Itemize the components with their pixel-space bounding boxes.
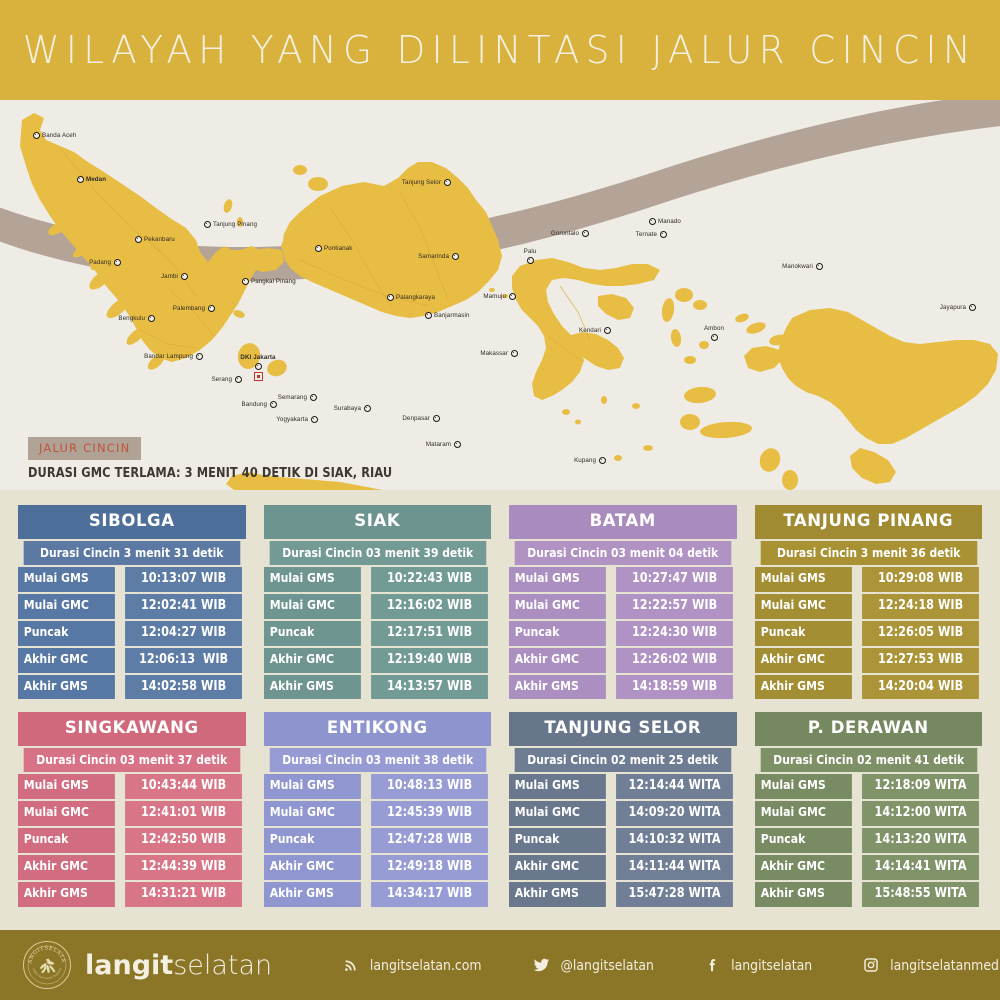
card-title: SIBOLGA <box>18 505 246 539</box>
city-dot <box>208 305 215 312</box>
city-dot <box>33 132 40 139</box>
city-dot <box>604 327 611 334</box>
row-label: Akhir GMS <box>509 882 606 907</box>
row-value: 14:09:20 WITA <box>616 801 733 826</box>
table-row: Puncak12:47:28 WIB <box>264 828 492 853</box>
city-dot <box>660 231 667 238</box>
table-row: Akhir GMS14:34:17 WIB <box>264 882 492 907</box>
city-label: Bandar Lampung <box>144 353 193 360</box>
row-value: 12:06:13 WIB <box>125 648 242 673</box>
table-row: Akhir GMC12:44:39 WIB <box>18 855 246 880</box>
brand-logo: LANGITSELATAN Jendela Astronomi Indonesi… <box>22 940 272 990</box>
city-dot <box>452 253 459 260</box>
card-title: SIAK <box>264 505 492 539</box>
table-row: Puncak12:24:30 WIB <box>509 621 737 646</box>
city-label: Tanjung Pinang <box>213 221 257 228</box>
jakarta-capital-marker <box>254 372 263 381</box>
city-dot <box>270 401 277 408</box>
rss-icon <box>342 956 360 974</box>
row-value: 14:11:44 WITA <box>616 855 733 880</box>
city-dot <box>444 179 451 186</box>
svg-text:LANGITSELATAN: LANGITSELATAN <box>22 940 66 965</box>
city-label: Medan <box>86 176 106 183</box>
row-label: Puncak <box>755 828 852 853</box>
social-handle-label: langitselatan.com <box>370 957 482 974</box>
cards-grid: SIBOLGADurasi Cincin 3 menit 31 detikMul… <box>18 505 982 907</box>
row-value: 14:13:57 WIB <box>371 675 488 700</box>
city-dot <box>114 259 121 266</box>
row-label: Akhir GMS <box>264 882 361 907</box>
row-label: Puncak <box>509 828 606 853</box>
row-value: 14:34:17 WIB <box>371 882 488 907</box>
row-label: Puncak <box>755 621 852 646</box>
city-label: Banda Aceh <box>42 132 76 139</box>
city-dot <box>315 245 322 252</box>
row-value: 12:04:27 WIB <box>125 621 242 646</box>
city-dot <box>135 236 142 243</box>
header-band: WILAYAH YANG DILINTASI JALUR CINCIN <box>0 0 1000 100</box>
timing-card: ENTIKONGDurasi Cincin 03 menit 38 detikM… <box>264 712 492 906</box>
city-label: Padang <box>89 259 111 266</box>
row-label: Akhir GMC <box>264 855 361 880</box>
city-dot <box>235 376 242 383</box>
social-link[interactable]: @langitselatan <box>533 956 656 974</box>
social-link[interactable]: langitselatanmedia <box>862 956 1000 974</box>
row-value: 10:27:47 WIB <box>616 567 733 592</box>
social-links: langitselatan.com@langitselatanlangitsel… <box>342 956 1000 974</box>
card-duration-subtitle: Durasi Cincin 02 menit 25 detik <box>515 748 731 773</box>
city-label: Jayapura <box>940 304 966 311</box>
row-value: 12:49:18 WIB <box>371 855 488 880</box>
table-row: Mulai GMC12:45:39 WIB <box>264 801 492 826</box>
city-dot <box>255 363 262 370</box>
timing-card: SIAKDurasi Cincin 03 menit 39 detikMulai… <box>264 505 492 699</box>
city-dot <box>242 278 249 285</box>
row-value: 12:26:05 WIB <box>862 621 979 646</box>
city-label: Semarang <box>278 394 307 401</box>
city-dot <box>387 294 394 301</box>
social-link[interactable]: langitselatan <box>704 956 814 974</box>
city-label: Bengkulu <box>118 315 145 322</box>
table-row: Akhir GMS15:48:55 WITA <box>755 882 983 907</box>
table-row: Akhir GMC12:06:13 WIB <box>18 648 246 673</box>
city-label: Pekanbaru <box>144 236 175 243</box>
row-value: 12:17:51 WIB <box>371 621 488 646</box>
table-row: Mulai GMS12:18:09 WITA <box>755 774 983 799</box>
card-duration-subtitle: Durasi Cincin 3 menit 36 detik <box>760 541 976 566</box>
table-row: Mulai GMS10:13:07 WIB <box>18 567 246 592</box>
row-label: Akhir GMS <box>755 882 852 907</box>
row-value: 14:10:32 WITA <box>616 828 733 853</box>
table-row: Mulai GMC12:41:01 WIB <box>18 801 246 826</box>
table-row: Akhir GMC12:49:18 WIB <box>264 855 492 880</box>
timing-card: P. DERAWANDurasi Cincin 02 menit 41 deti… <box>755 712 983 906</box>
city-dot <box>310 394 317 401</box>
social-handle-label: langitselatanmedia <box>891 957 1000 974</box>
row-value: 12:18:09 WITA <box>862 774 979 799</box>
row-value: 14:14:41 WITA <box>862 855 979 880</box>
row-value: 14:02:58 WIB <box>125 675 242 700</box>
row-label: Mulai GMS <box>264 567 361 592</box>
row-value: 12:14:44 WITA <box>616 774 733 799</box>
row-label: Mulai GMC <box>264 801 361 826</box>
city-label: Ambon <box>704 325 724 332</box>
card-duration-subtitle: Durasi Cincin 03 menit 04 detik <box>515 541 731 566</box>
city-label: Manado <box>658 218 681 225</box>
card-title: TANJUNG PINANG <box>755 505 983 539</box>
table-row: Puncak14:10:32 WITA <box>509 828 737 853</box>
row-label: Mulai GMC <box>755 594 852 619</box>
row-label: Mulai GMS <box>18 774 115 799</box>
city-label: Manokwari <box>782 263 813 270</box>
card-title: BATAM <box>509 505 737 539</box>
city-dot <box>711 334 718 341</box>
row-label: Akhir GMC <box>755 855 852 880</box>
row-label: Puncak <box>18 621 115 646</box>
city-dot <box>599 457 606 464</box>
row-label: Mulai GMC <box>18 801 115 826</box>
row-value: 14:12:00 WITA <box>862 801 979 826</box>
row-value: 12:24:18 WIB <box>862 594 979 619</box>
city-dot <box>649 218 656 225</box>
row-label: Mulai GMC <box>509 594 606 619</box>
row-label: Puncak <box>509 621 606 646</box>
city-label: Surabaya <box>334 405 361 412</box>
city-label: Kendari <box>579 327 601 334</box>
city-label: Bandung <box>242 401 267 408</box>
row-value: 10:43:44 WIB <box>125 774 242 799</box>
card-duration-subtitle: Durasi Cincin 03 menit 37 detik <box>24 748 240 773</box>
city-dot <box>148 315 155 322</box>
row-label: Akhir GMS <box>18 882 115 907</box>
svg-text:Jendela Astronomi Indonesia: Jendela Astronomi Indonesia <box>22 940 63 980</box>
table-row: Mulai GMS10:43:44 WIB <box>18 774 246 799</box>
timing-card: SINGKAWANGDurasi Cincin 03 menit 37 deti… <box>18 712 246 906</box>
row-label: Akhir GMS <box>509 675 606 700</box>
table-row: Akhir GMS15:47:28 WITA <box>509 882 737 907</box>
city-dot <box>364 405 371 412</box>
city-dot <box>204 221 211 228</box>
row-value: 15:47:28 WITA <box>616 882 733 907</box>
table-row: Mulai GMS10:27:47 WIB <box>509 567 737 592</box>
infographic-page: WILAYAH YANG DILINTASI JALUR CINCIN <box>0 0 1000 1000</box>
langitselatan-seal-icon: LANGITSELATAN Jendela Astronomi Indonesi… <box>22 940 72 990</box>
card-title: TANJUNG SELOR <box>509 712 737 746</box>
city-timing-cards-section: SIBOLGADurasi Cincin 3 menit 31 detikMul… <box>0 490 1000 930</box>
table-row: Akhir GMS14:02:58 WIB <box>18 675 246 700</box>
brand-wordmark: langitselatan <box>85 952 272 979</box>
row-label: Mulai GMS <box>755 567 852 592</box>
table-row: Mulai GMC14:12:00 WITA <box>755 801 983 826</box>
row-value: 12:19:40 WIB <box>371 648 488 673</box>
table-row: Mulai GMS12:14:44 WITA <box>509 774 737 799</box>
city-label: Ternate <box>636 231 657 238</box>
row-value: 12:22:57 WIB <box>616 594 733 619</box>
city-dot <box>527 257 534 264</box>
table-row: Akhir GMS14:13:57 WIB <box>264 675 492 700</box>
row-value: 12:47:28 WIB <box>371 828 488 853</box>
city-label: Jambi <box>161 273 178 280</box>
city-label: DKI Jakarta <box>240 354 275 361</box>
row-label: Akhir GMC <box>18 648 115 673</box>
row-value: 12:27:53 WIB <box>862 648 979 673</box>
city-label: Palangkaraya <box>396 294 435 301</box>
city-label: Banjarmasin <box>434 312 470 319</box>
row-value: 14:20:04 WIB <box>862 675 979 700</box>
city-dot <box>196 353 203 360</box>
legend-jalur-cincin: JALUR CINCIN <box>28 437 141 460</box>
card-duration-subtitle: Durasi Cincin 02 menit 41 detik <box>760 748 976 773</box>
row-label: Puncak <box>264 828 361 853</box>
city-dot <box>425 312 432 319</box>
row-label: Akhir GMC <box>264 648 361 673</box>
table-row: Puncak12:04:27 WIB <box>18 621 246 646</box>
row-label: Puncak <box>18 828 115 853</box>
table-row: Mulai GMC12:02:41 WIB <box>18 594 246 619</box>
row-value: 12:16:02 WIB <box>371 594 488 619</box>
table-row: Mulai GMC12:22:57 WIB <box>509 594 737 619</box>
social-handle-label: langitselatan <box>731 957 812 974</box>
city-label: Denpasar <box>402 415 430 422</box>
row-value: 10:22:43 WIB <box>371 567 488 592</box>
row-value: 12:02:41 WIB <box>125 594 242 619</box>
timing-card: TANJUNG PINANGDurasi Cincin 3 menit 36 d… <box>755 505 983 699</box>
table-row: Puncak14:13:20 WITA <box>755 828 983 853</box>
row-label: Akhir GMC <box>509 648 606 673</box>
city-dot <box>511 350 518 357</box>
city-dot <box>969 304 976 311</box>
table-row: Mulai GMC14:09:20 WITA <box>509 801 737 826</box>
page-title: WILAYAH YANG DILINTASI JALUR CINCIN <box>23 28 977 72</box>
twitter-icon <box>533 956 551 974</box>
row-label: Akhir GMS <box>264 675 361 700</box>
row-value: 14:13:20 WITA <box>862 828 979 853</box>
city-label: Samarinda <box>418 253 449 260</box>
facebook-icon <box>704 956 722 974</box>
row-value: 12:42:50 WIB <box>125 828 242 853</box>
row-label: Mulai GMS <box>509 567 606 592</box>
table-row: Puncak12:17:51 WIB <box>264 621 492 646</box>
card-duration-subtitle: Durasi Cincin 3 menit 31 detik <box>24 541 240 566</box>
timing-card: SIBOLGADurasi Cincin 3 menit 31 detikMul… <box>18 505 246 699</box>
city-dot <box>454 441 461 448</box>
table-row: Akhir GMC12:27:53 WIB <box>755 648 983 673</box>
social-handle-label: @langitselatan <box>560 957 654 974</box>
row-label: Mulai GMS <box>264 774 361 799</box>
row-label: Mulai GMS <box>755 774 852 799</box>
table-row: Akhir GMS14:31:21 WIB <box>18 882 246 907</box>
table-row: Mulai GMC12:24:18 WIB <box>755 594 983 619</box>
city-label: Mataram <box>426 441 451 448</box>
table-row: Akhir GMC14:11:44 WITA <box>509 855 737 880</box>
city-label: Kupang <box>574 457 596 464</box>
row-label: Akhir GMC <box>755 648 852 673</box>
table-row: Puncak12:26:05 WIB <box>755 621 983 646</box>
row-label: Mulai GMS <box>509 774 606 799</box>
row-label: Mulai GMS <box>18 567 115 592</box>
card-duration-subtitle: Durasi Cincin 03 menit 39 detik <box>269 541 485 566</box>
row-label: Akhir GMS <box>755 675 852 700</box>
city-dot <box>311 416 318 423</box>
timing-card: TANJUNG SELORDurasi Cincin 02 menit 25 d… <box>509 712 737 906</box>
row-value: 12:24:30 WIB <box>616 621 733 646</box>
city-label: Tanjung Selor <box>402 179 441 186</box>
card-title: SINGKAWANG <box>18 712 246 746</box>
row-value: 10:48:13 WIB <box>371 774 488 799</box>
footer-band: LANGITSELATAN Jendela Astronomi Indonesi… <box>0 930 1000 1000</box>
instagram-icon <box>862 956 880 974</box>
social-link[interactable]: langitselatan.com <box>342 956 484 974</box>
city-dot <box>181 273 188 280</box>
row-value: 12:44:39 WIB <box>125 855 242 880</box>
table-row: Akhir GMC12:26:02 WIB <box>509 648 737 673</box>
city-label: Palu <box>524 248 537 255</box>
city-label: Palembang <box>173 305 205 312</box>
city-label: Pontianak <box>324 245 352 252</box>
row-label: Mulai GMC <box>18 594 115 619</box>
table-row: Akhir GMC12:19:40 WIB <box>264 648 492 673</box>
card-duration-subtitle: Durasi Cincin 03 menit 38 detik <box>269 748 485 773</box>
row-value: 12:45:39 WIB <box>371 801 488 826</box>
row-value: 15:48:55 WITA <box>862 882 979 907</box>
row-value: 12:26:02 WIB <box>616 648 733 673</box>
city-label: Makassar <box>480 350 508 357</box>
row-label: Mulai GMC <box>264 594 361 619</box>
brand-bold: langit <box>85 950 173 981</box>
row-value: 14:18:59 WIB <box>616 675 733 700</box>
city-label: Yogyakarta <box>276 416 308 423</box>
card-title: P. DERAWAN <box>755 712 983 746</box>
table-row: Puncak12:42:50 WIB <box>18 828 246 853</box>
city-label: Pangkal Pinang <box>251 278 296 285</box>
row-label: Akhir GMC <box>509 855 606 880</box>
row-value: 10:13:07 WIB <box>125 567 242 592</box>
table-row: Akhir GMS14:18:59 WIB <box>509 675 737 700</box>
city-dot <box>509 293 516 300</box>
city-dot <box>77 176 84 183</box>
brand-light: selatan <box>173 950 272 981</box>
row-label: Mulai GMC <box>755 801 852 826</box>
timing-card: BATAMDurasi Cincin 03 menit 04 detikMula… <box>509 505 737 699</box>
row-label: Akhir GMS <box>18 675 115 700</box>
table-row: Mulai GMC12:16:02 WIB <box>264 594 492 619</box>
table-row: Mulai GMS10:29:08 WIB <box>755 567 983 592</box>
city-label: Gorontalo <box>551 230 579 237</box>
map-caption: DURASI GMC TERLAMA: 3 MENIT 40 DETIK DI … <box>28 465 392 481</box>
table-row: Mulai GMS10:48:13 WIB <box>264 774 492 799</box>
row-value: 12:41:01 WIB <box>125 801 242 826</box>
city-dot <box>582 230 589 237</box>
row-label: Mulai GMC <box>509 801 606 826</box>
row-label: Puncak <box>264 621 361 646</box>
table-row: Akhir GMS14:20:04 WIB <box>755 675 983 700</box>
row-value: 14:31:21 WIB <box>125 882 242 907</box>
city-label: Serang <box>211 376 232 383</box>
card-title: ENTIKONG <box>264 712 492 746</box>
city-dot <box>433 415 440 422</box>
table-row: Mulai GMS10:22:43 WIB <box>264 567 492 592</box>
city-dot <box>816 263 823 270</box>
table-row: Akhir GMC14:14:41 WITA <box>755 855 983 880</box>
row-value: 10:29:08 WIB <box>862 567 979 592</box>
row-label: Akhir GMC <box>18 855 115 880</box>
city-label: Mamuju <box>483 293 506 300</box>
indonesia-map: Banda AcehMedanPekanbaruPadangJambiBengk… <box>0 100 1000 490</box>
